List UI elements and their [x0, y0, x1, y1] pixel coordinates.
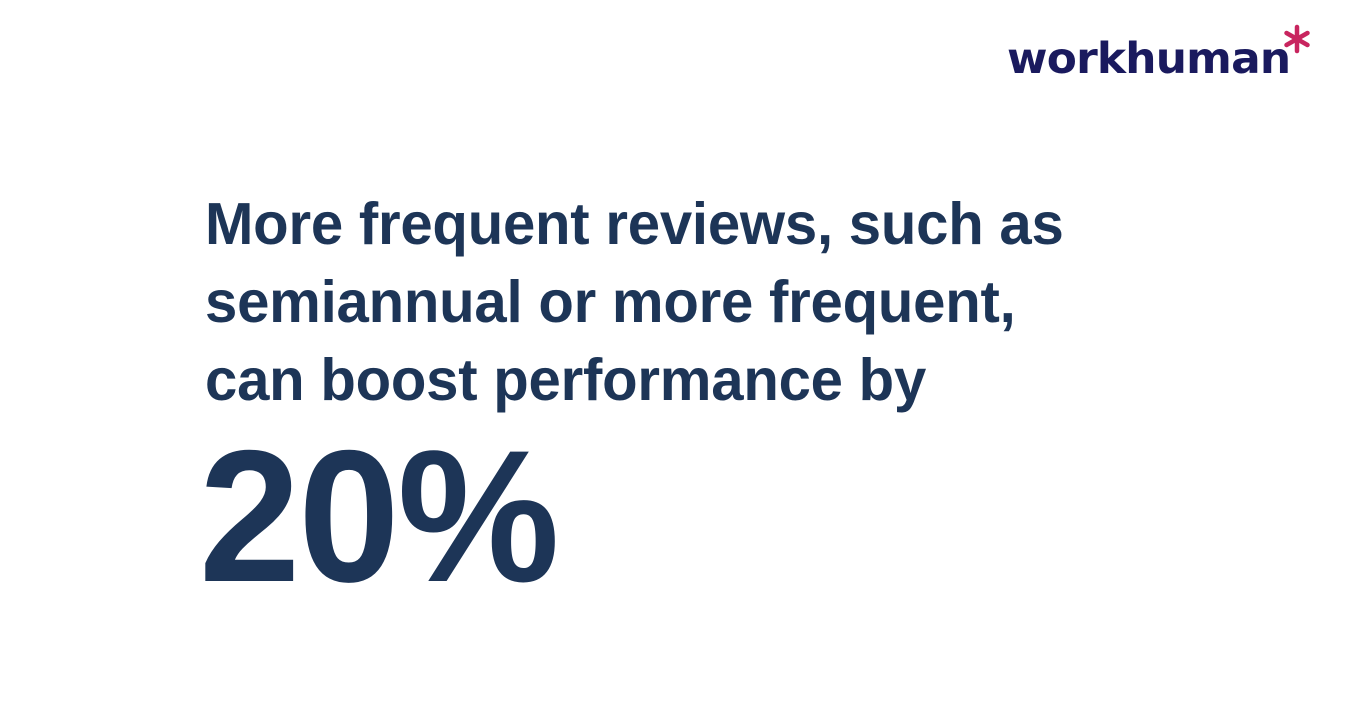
- statistic-slide: workhuman More frequent reviews, such as…: [0, 0, 1348, 708]
- logo-wordmark: workhuman: [1007, 38, 1290, 81]
- workhuman-logo: workhuman: [1007, 24, 1312, 81]
- headline-line-2: semiannual or more frequent,: [205, 263, 1190, 341]
- headline: More frequent reviews, such as semiannua…: [205, 185, 1205, 419]
- statistic-figure: 20%: [199, 421, 569, 611]
- statistic-value: 20%: [199, 421, 557, 611]
- headline-line-3: can boost performance by: [205, 341, 1190, 419]
- headline-line-1: More frequent reviews, such as: [205, 185, 1190, 263]
